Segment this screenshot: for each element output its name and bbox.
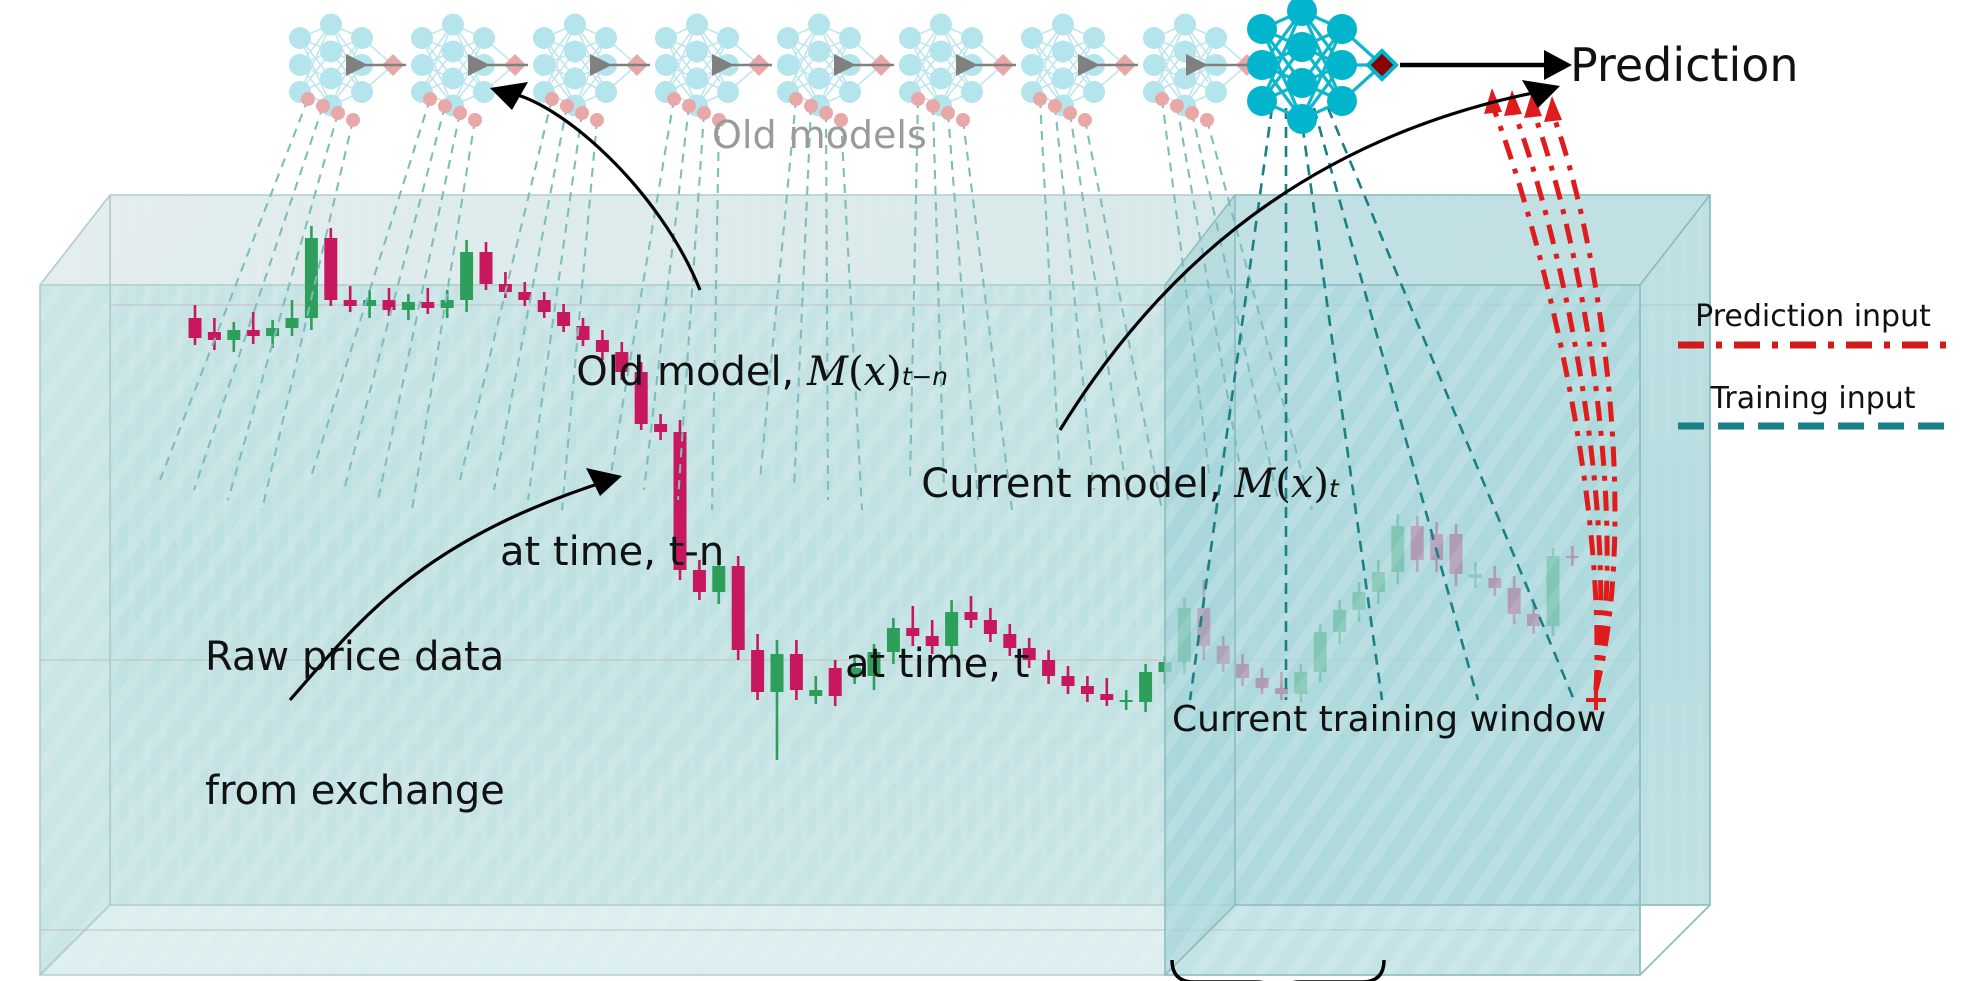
current-training-window-label: Current training window xyxy=(1172,700,1606,740)
legend-swatch-prediction-input xyxy=(1668,334,1958,356)
current-model-math-close: ) xyxy=(1313,461,1329,507)
legend-label-training-input: Training input xyxy=(1668,382,1958,416)
current-model-math-sub: t xyxy=(1329,474,1339,503)
current-model-math-m: M xyxy=(1234,461,1275,507)
legend: Prediction input Training input xyxy=(1668,300,1958,441)
prediction-label: Prediction xyxy=(1570,40,1799,92)
current-model-time: at time, t xyxy=(845,642,1339,687)
current-model-math-open: ( xyxy=(1275,461,1291,507)
old-models-label: Old models xyxy=(712,114,927,157)
legend-swatch-training-input xyxy=(1668,415,1958,437)
training-window-brace xyxy=(1172,960,1384,981)
current-model-math-var: x xyxy=(1291,461,1314,507)
old-model-text: Old model, xyxy=(576,349,807,395)
current-model-text: Current model, xyxy=(921,461,1234,507)
legend-item-training-input: Training input xyxy=(1668,382,1958,442)
raw-price-annotation: Raw price data from exchange xyxy=(205,545,505,903)
legend-label-prediction-input: Prediction input xyxy=(1668,300,1958,334)
old-model-math-m: M xyxy=(807,349,848,395)
raw-price-line1: Raw price data xyxy=(205,635,505,680)
diagram-canvas: FreqAI xyxy=(0,0,1966,981)
legend-item-prediction-input: Prediction input xyxy=(1668,300,1958,360)
raw-price-line2: from exchange xyxy=(205,769,505,814)
